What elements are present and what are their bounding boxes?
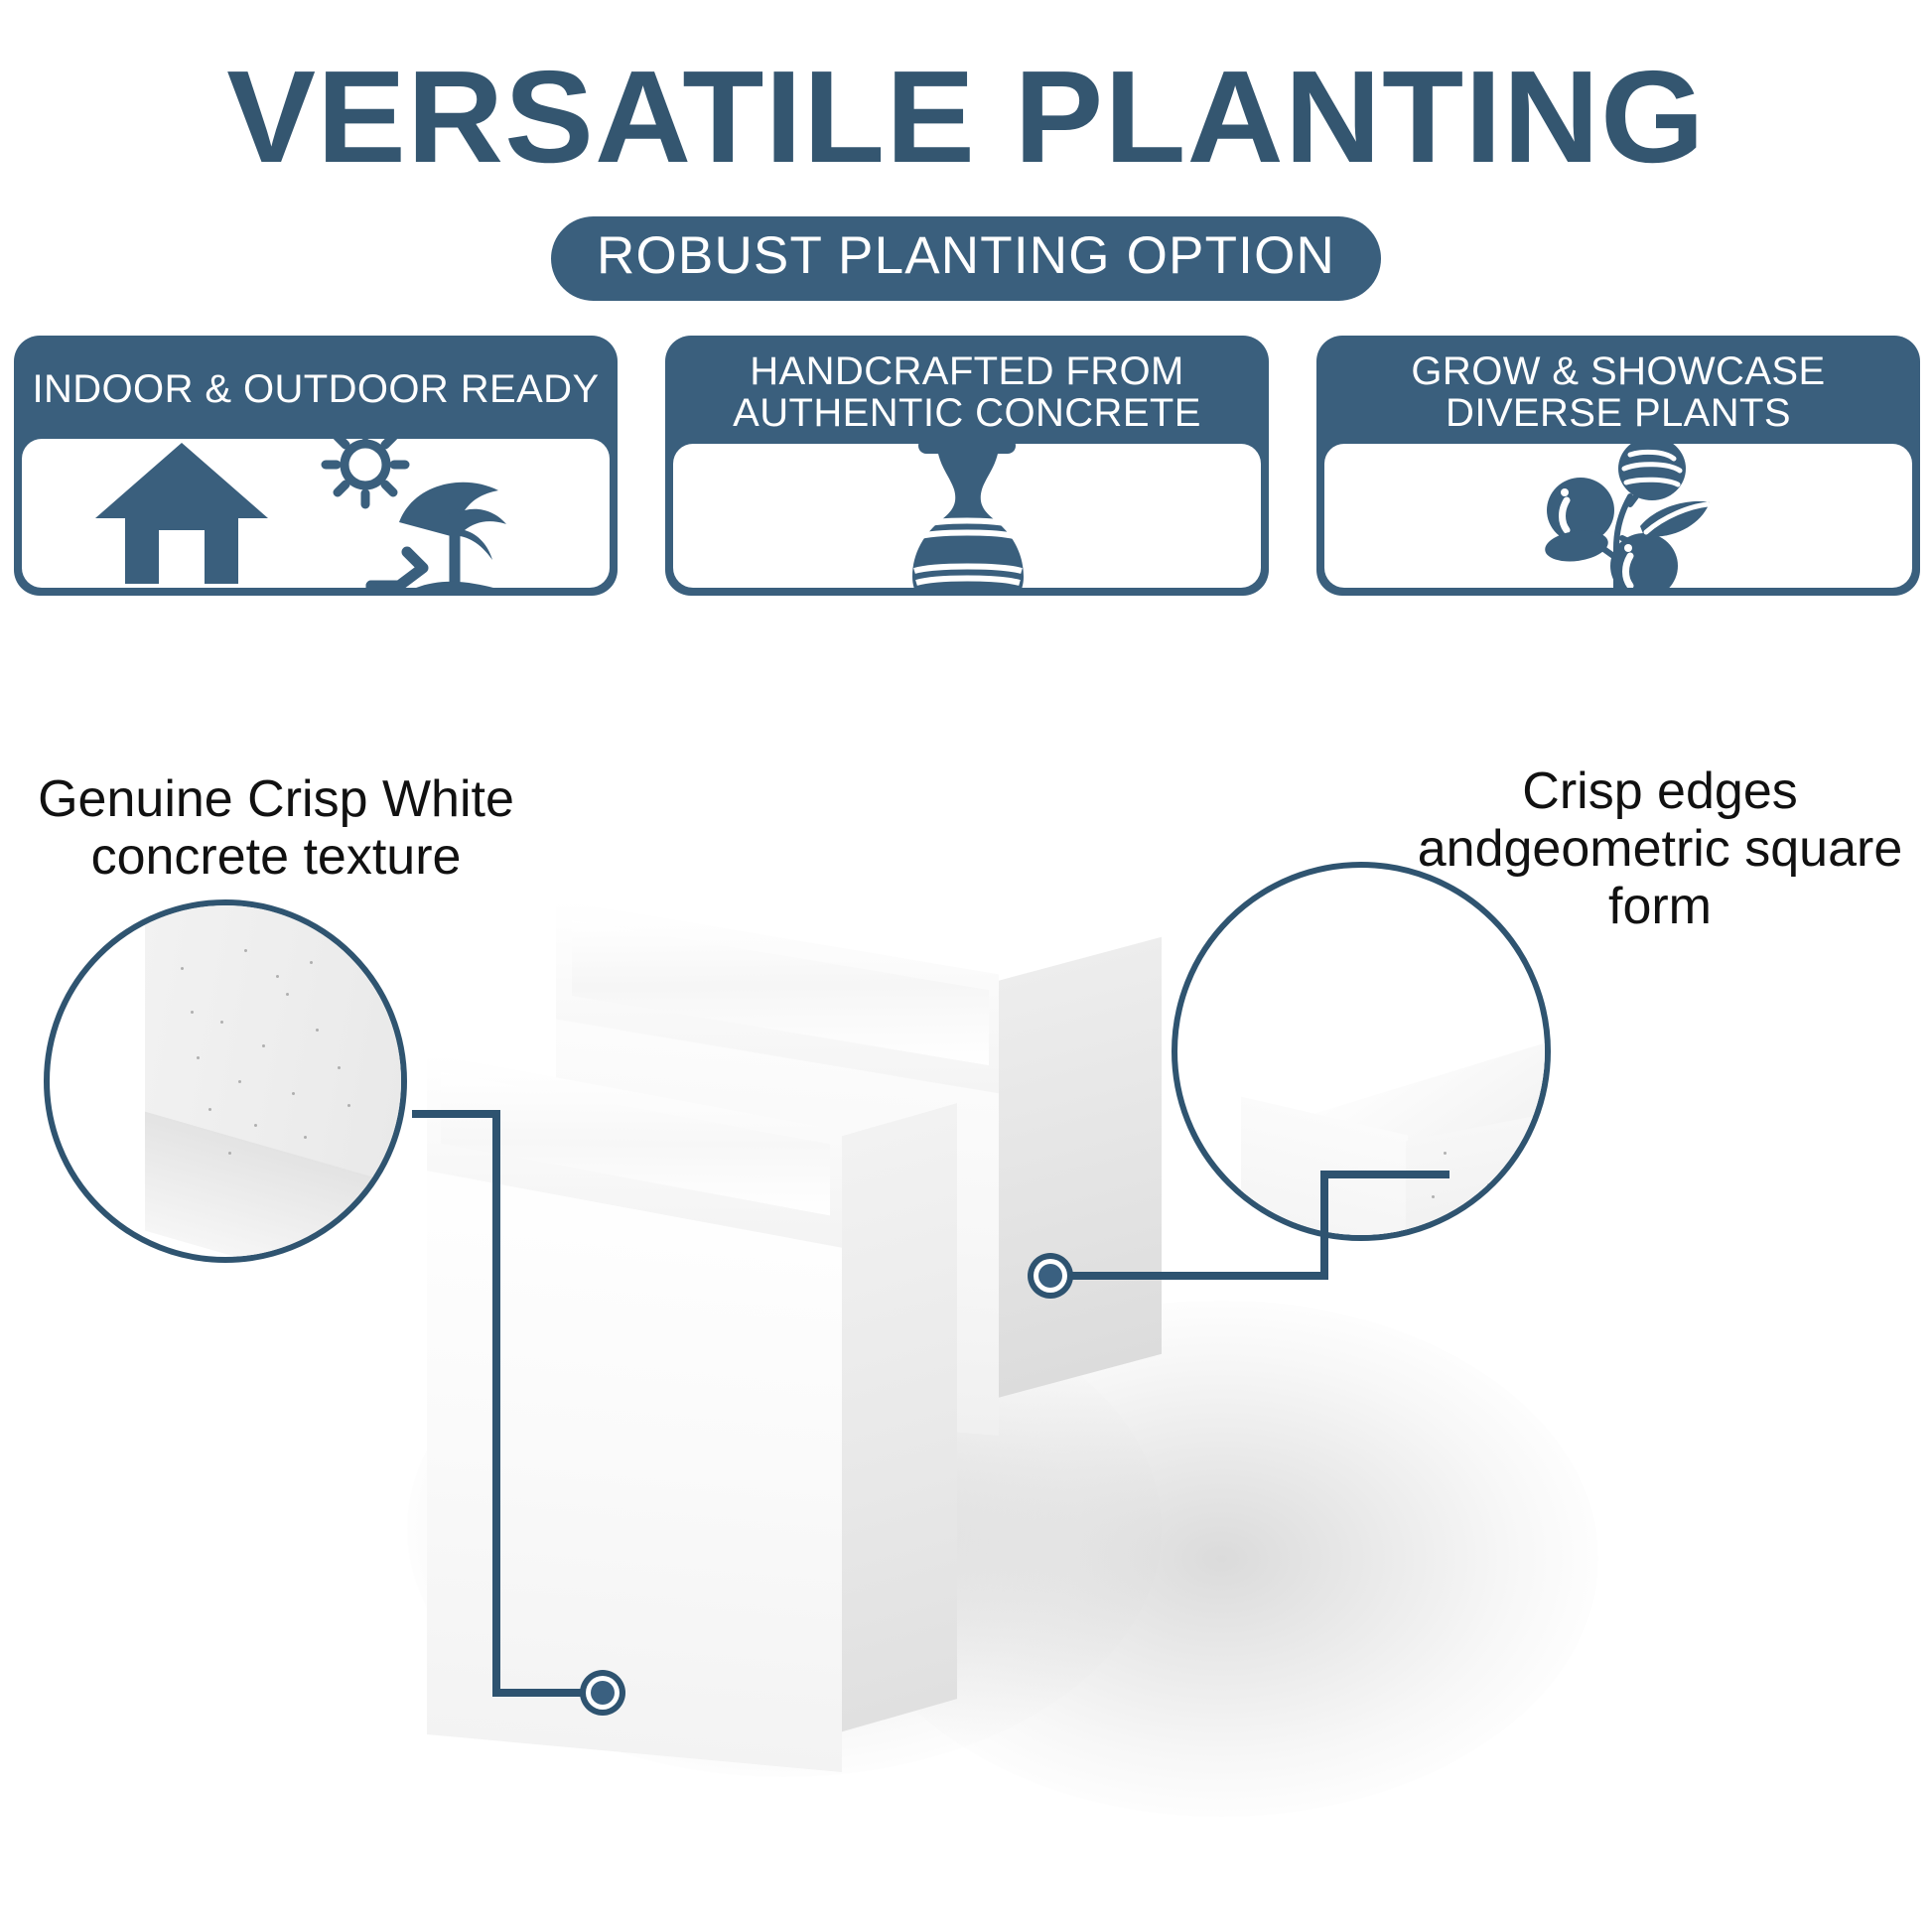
feature-card-grow-showcase: GROW & SHOWCASE DIVERSE PLANTS: [1316, 336, 1920, 596]
dot-core: [591, 1681, 615, 1705]
dot-ring: [586, 1676, 620, 1710]
planter-corner-closeup: [1177, 868, 1545, 1235]
concrete-texture-closeup: [50, 905, 401, 1257]
house-icon: [93, 439, 270, 588]
feature-card-icon-area: [1324, 444, 1912, 588]
feature-card-title: HANDCRAFTED FROM AUTHENTIC CONCRETE: [673, 344, 1261, 444]
callout-anchor-dot-right: [1028, 1253, 1073, 1299]
feature-card-icon-area: [673, 444, 1261, 588]
feature-card-indoor-outdoor: INDOOR & OUTDOOR READY: [14, 336, 618, 596]
callout-zoom-circle-left: [44, 899, 407, 1263]
feature-card-title: GROW & SHOWCASE DIVERSE PLANTS: [1324, 344, 1912, 444]
callout-zoom-circle-right: [1172, 862, 1551, 1241]
dot-core: [1038, 1264, 1062, 1288]
concrete-speckles: [50, 905, 401, 1257]
callout-label-left: Genuine Crisp White concrete texture: [8, 770, 544, 886]
rear-planter-side-face: [997, 937, 1162, 1398]
callout-anchor-dot-left: [580, 1670, 625, 1716]
infographic-canvas: VERSATILE PLANTING ROBUST PLANTING OPTIO…: [0, 0, 1932, 1932]
berry-branch-icon: [1519, 444, 1718, 588]
feature-card-row: INDOOR & OUTDOOR READY: [14, 336, 1920, 596]
dot-ring: [1034, 1259, 1067, 1293]
subtitle-badge: ROBUST PLANTING OPTION: [551, 216, 1381, 301]
sun-and-beach-icon: [304, 439, 538, 588]
front-planter-side-face: [840, 1103, 957, 1732]
feature-card-handcrafted-concrete: HANDCRAFTED FROM AUTHENTIC CONCRETE: [665, 336, 1269, 596]
page-title: VERSATILE PLANTING: [0, 52, 1932, 183]
corner-speckles: [1177, 868, 1545, 1235]
vase-icon: [877, 444, 1057, 588]
feature-card-title: INDOOR & OUTDOOR READY: [22, 344, 610, 439]
short-front-planter: [427, 1102, 983, 1817]
feature-card-icon-area: [22, 439, 610, 588]
